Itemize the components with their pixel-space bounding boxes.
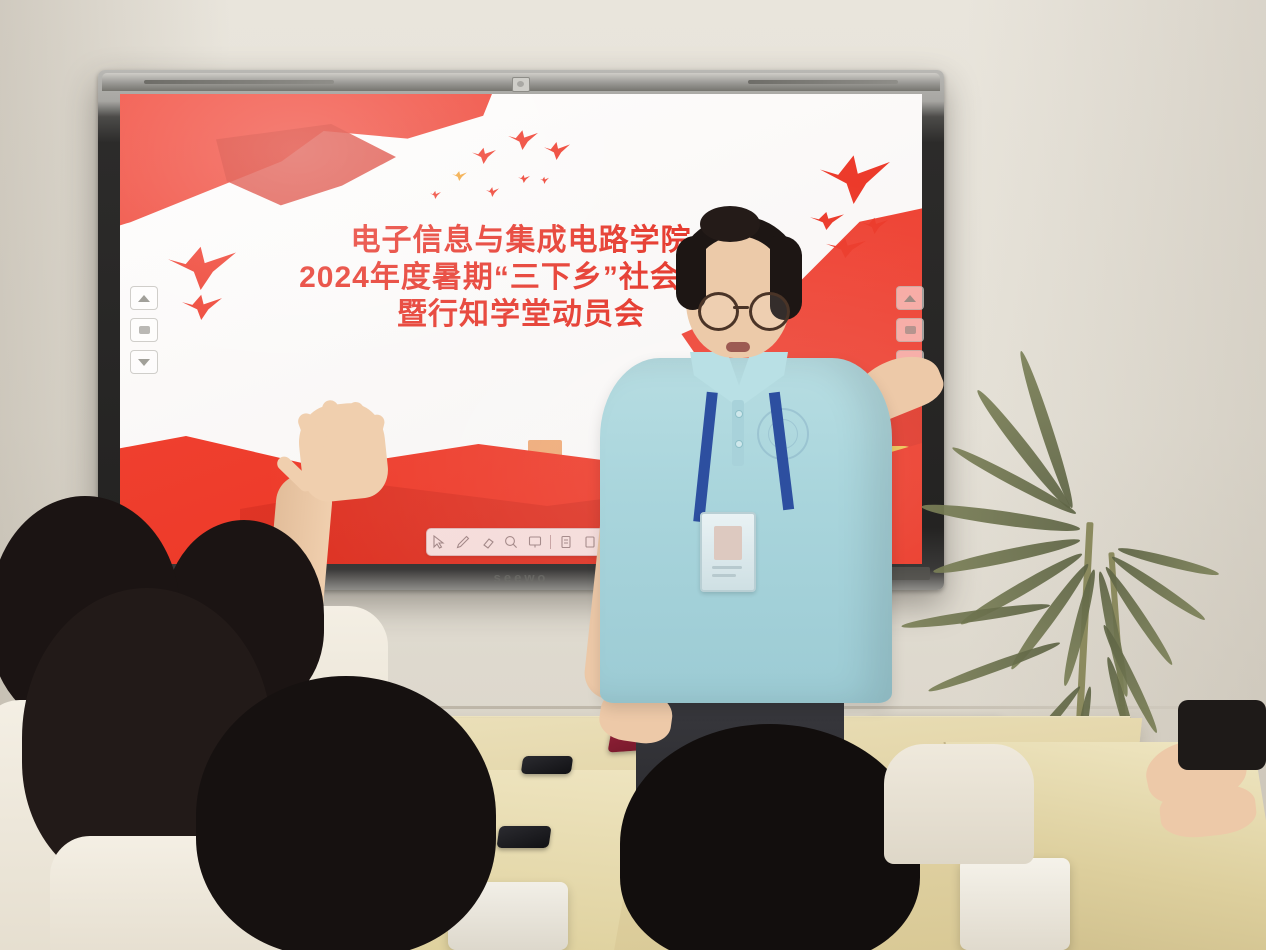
bird-icon [472,146,496,164]
phone-black-center[interactable] [521,756,574,774]
id-badge [700,512,756,592]
triangle-up-icon [138,295,150,302]
bird-icon [430,190,441,199]
bird-icon [452,170,467,181]
page-tool-icon[interactable] [554,530,578,554]
menu-button[interactable] [896,318,924,342]
glasses-bridge [733,306,749,309]
palm-frond [927,638,1062,695]
badge-text-line [712,574,736,577]
bird-icon [540,176,549,184]
bird-icon [508,128,538,150]
menu-icon [905,326,916,334]
menu-button[interactable] [130,318,158,342]
pen-tool-icon[interactable] [451,530,475,554]
cursor-tool-icon[interactable] [427,530,451,554]
shirt-button [735,440,743,448]
bird-icon [518,174,530,183]
presenter-hair-bun [700,206,760,242]
toolbar-divider [550,535,551,549]
audience-head [196,676,496,950]
badge-text-line [712,566,742,569]
attendee-sleeve [1178,700,1266,770]
display-top-bar [102,73,940,91]
top-vent-right [748,80,898,84]
channel-down-button[interactable] [130,350,158,374]
shirt-button [735,410,743,418]
channel-up-button[interactable] [130,286,158,310]
badge-photo [714,526,742,560]
presenter-mouth [726,342,750,352]
triangle-up-icon [904,295,916,302]
audience-head [620,724,920,950]
bird-icon [820,150,890,204]
audience-top [884,744,1034,864]
screenshot-root: 电子信息与集成电路学院 2024年度暑期“三下乡”社会实践 暨行知学堂动员会 [0,0,1266,950]
eraser-tool-icon[interactable] [475,530,499,554]
camera-icon [512,77,530,92]
glasses-lens-right [749,292,790,331]
magnifier-tool-icon[interactable] [499,530,523,554]
wall-control-left[interactable] [130,286,156,374]
menu-icon [139,326,150,334]
glasses-lens-left [698,292,739,331]
channel-up-button[interactable] [896,286,924,310]
triangle-down-icon [138,359,150,366]
bird-icon [544,140,570,160]
ribbon-top-left-fold [216,124,396,234]
phone-black-left[interactable] [496,826,551,848]
frame-tool-icon[interactable] [523,530,547,554]
top-vent-left [144,80,334,84]
bird-icon [486,186,499,197]
chair-right [960,858,1070,950]
bezel-port [888,567,930,580]
palm-frond [973,386,1076,512]
